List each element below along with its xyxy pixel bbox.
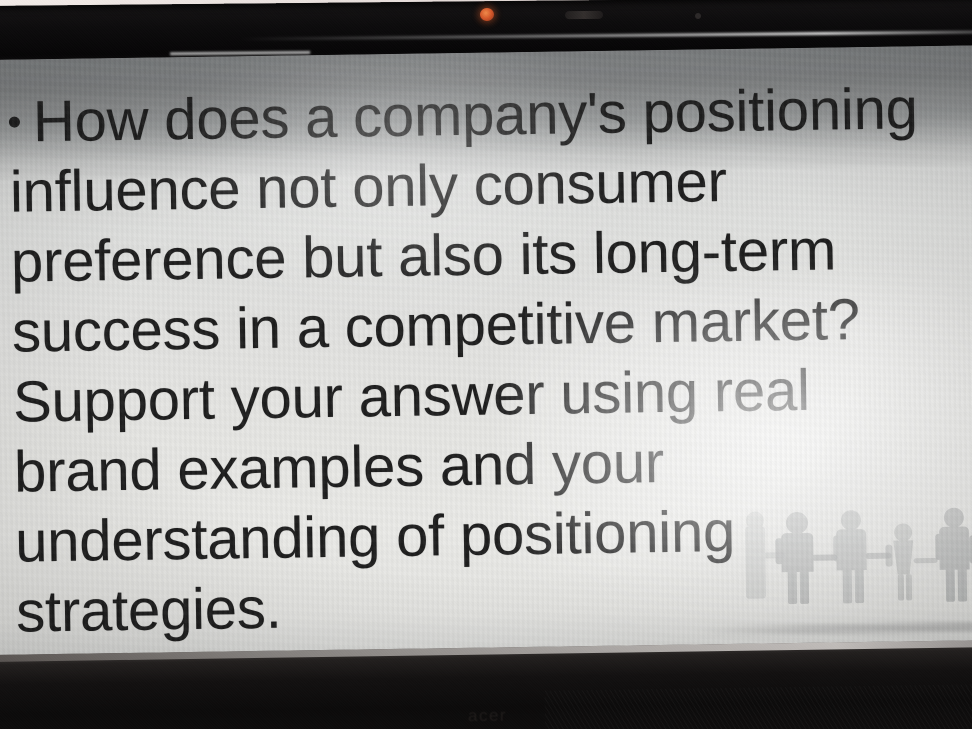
laptop-display: How does a company's positioning influen… xyxy=(0,45,972,672)
slide-line-3: preference but also its long-term xyxy=(11,217,837,294)
slide-line-4: success in a competitive market? xyxy=(12,287,861,365)
slide-body-text: How does a company's positioning influen… xyxy=(8,73,972,647)
slide-line-1: How does a company's positioning xyxy=(32,76,918,154)
deck-texture xyxy=(544,684,972,729)
slide-bullet-line-1: How does a company's positioning xyxy=(8,73,969,157)
slide-line-7: understanding of positioning xyxy=(15,499,736,575)
bullet-point-icon xyxy=(9,117,20,128)
slide-line-8-row: strategies. xyxy=(16,563,972,647)
acer-brand-logo: acer xyxy=(468,706,507,727)
webcam-lens xyxy=(565,11,603,19)
presentation-slide: How does a company's positioning influen… xyxy=(0,45,972,672)
webcam-indicator-led xyxy=(480,8,494,21)
slide-line-4-row: success in a competitive market? xyxy=(12,283,972,367)
webcam-microphone-hole-icon xyxy=(695,13,701,19)
slide-line-8: strategies. xyxy=(16,576,282,645)
laptop-screen-photo: How does a company's positioning influen… xyxy=(0,0,972,729)
slide-line-5: Support your answer using real xyxy=(13,358,811,435)
slide-line-6: brand examples and your xyxy=(14,430,665,505)
slide-line-2: influence not only consumer xyxy=(9,149,727,225)
